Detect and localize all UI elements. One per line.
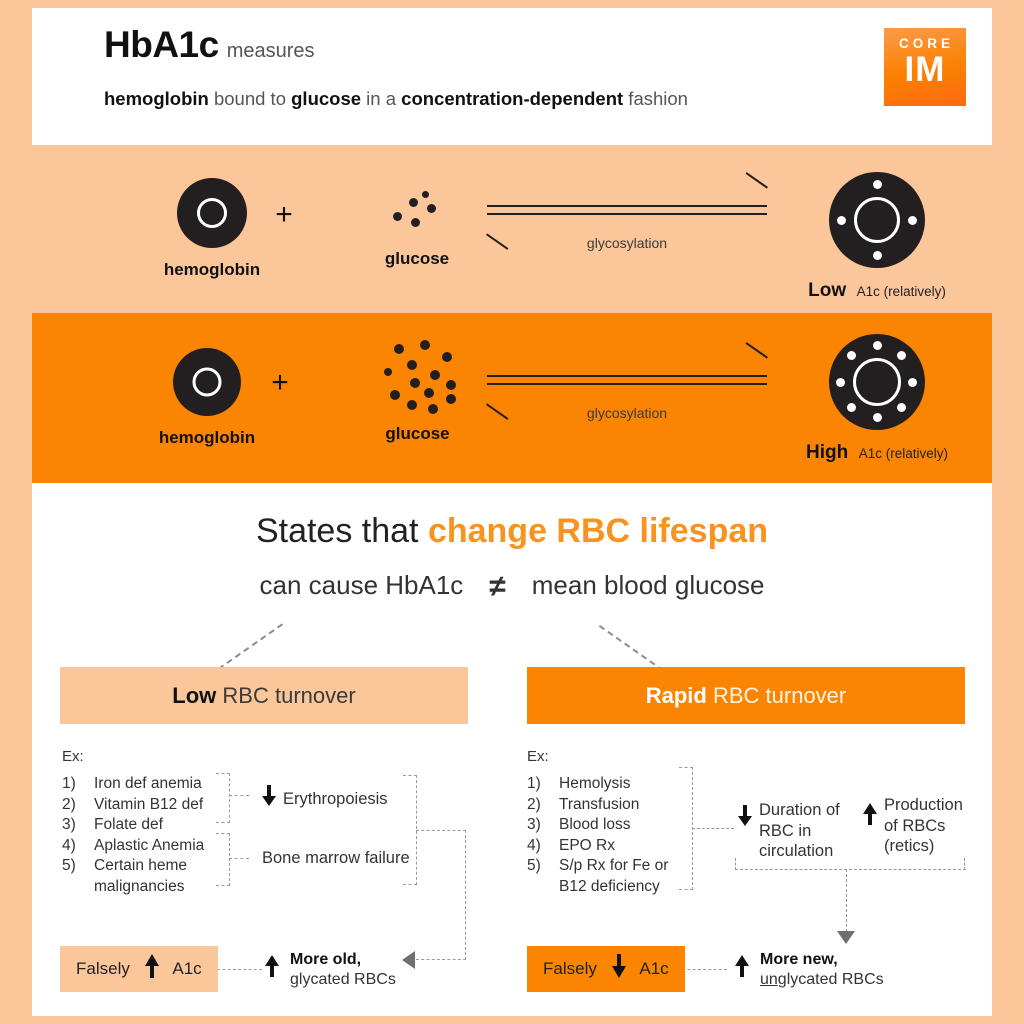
list-item-number: 5) xyxy=(62,856,94,877)
hemoglobin-circle-icon xyxy=(177,178,247,248)
title-hba1c: HbA1c xyxy=(104,24,219,65)
effect-erythropoiesis-low: Erythropoiesis xyxy=(262,785,388,810)
subheadline-left: can cause HbA1c xyxy=(260,570,464,600)
effect-label-line2: of RBCs xyxy=(884,817,945,835)
effect-label-line1: Duration of xyxy=(759,801,840,819)
effect-label-line3: circulation xyxy=(759,842,833,860)
list-item: 2)Transfusion xyxy=(527,795,668,816)
effect-label-line1: Production xyxy=(884,796,963,814)
panel-rapid-strong: Rapid xyxy=(646,683,707,708)
list-item-number: 5) xyxy=(527,856,559,877)
glucose-label: glucose xyxy=(350,424,485,444)
ex-label-low: Ex: xyxy=(62,748,84,765)
not-equal-icon: ≠ xyxy=(489,570,505,604)
up-arrow-icon xyxy=(145,950,159,996)
panel-header-low-turnover: Low RBC turnover xyxy=(60,667,468,724)
list-item: malignancies xyxy=(62,877,204,898)
effect-label: Erythropoiesis xyxy=(283,790,388,808)
high-a1c-strong: High xyxy=(806,442,848,463)
bracket-rapid-stub xyxy=(692,828,734,829)
list-item-label: Certain heme xyxy=(94,857,187,874)
low-a1c-product: Low A1c (relatively) xyxy=(772,172,982,302)
page-title: HbA1cmeasures xyxy=(104,24,315,66)
glucose-label: glucose xyxy=(352,249,482,269)
subtitle-glucose: glucose xyxy=(291,88,361,109)
bracket-low-group1-top xyxy=(216,773,230,774)
logo-core-text: CORE xyxy=(887,36,966,51)
list-item: 3)Blood loss xyxy=(527,815,668,836)
hemoglobin-label: hemoglobin xyxy=(137,428,277,448)
glucose-molecule-high: glucose xyxy=(350,336,485,444)
outcome-rest: glycated RBCs xyxy=(778,971,884,988)
list-item-label: Blood loss xyxy=(559,816,631,833)
glucose-dots-icon xyxy=(376,336,460,414)
bracket-low-group2-top xyxy=(216,833,230,834)
list-item: 1)Hemolysis xyxy=(527,774,668,795)
outcome-strong: More old, xyxy=(290,951,361,968)
hemoglobin-label: hemoglobin xyxy=(142,260,282,280)
list-item-number: 1) xyxy=(527,774,559,795)
list-item: 4)EPO Rx xyxy=(527,836,668,857)
down-arrow-icon xyxy=(738,805,752,827)
arrowhead-down-rapid xyxy=(837,931,855,944)
high-a1c-rest: A1c (relatively) xyxy=(859,446,948,461)
example-list-low: 1)Iron def anemia 2)Vitamin B12 def 3)Fo… xyxy=(62,774,204,897)
effect-label-line3: (retics) xyxy=(884,837,934,855)
list-item-label: Hemolysis xyxy=(559,775,630,792)
list-item: 2)Vitamin B12 def xyxy=(62,795,204,816)
list-item-label: Vitamin B12 def xyxy=(94,796,203,813)
connector-low-outcome-to-result xyxy=(212,969,262,970)
route-low-down xyxy=(465,830,466,960)
falsely-suffix: A1c xyxy=(172,959,201,978)
plus-sign-low: + xyxy=(264,198,304,232)
glycosylation-arrow-low: glycosylation xyxy=(487,195,767,229)
effect-production-rbc-rapid: Production of RBCs (retics) xyxy=(863,795,963,857)
example-list-rapid: 1)Hemolysis 2)Transfusion 3)Blood loss 4… xyxy=(527,774,668,897)
list-item: B12 deficiency xyxy=(527,877,668,898)
list-item-number: 4) xyxy=(527,836,559,857)
high-a1c-product: High A1c (relatively) xyxy=(772,334,982,464)
subtitle-concentration-dependent: concentration-dependent xyxy=(401,88,623,109)
ex-label-rapid: Ex: xyxy=(527,748,549,765)
route-low-to-outcome xyxy=(416,959,466,960)
subtitle-fashion: fashion xyxy=(623,88,688,109)
bracket-low-group1 xyxy=(229,773,230,823)
bracket-low-group2-stub xyxy=(229,858,249,859)
low-a1c-rest: A1c (relatively) xyxy=(857,284,946,299)
outcome-low: More old, glycated RBCs xyxy=(290,950,396,990)
list-item-label: B12 deficiency xyxy=(527,877,668,898)
headline-accent: change RBC lifespan xyxy=(428,512,768,550)
core-im-logo: CORE IM xyxy=(884,28,966,106)
route-low-right-bottom xyxy=(403,884,417,885)
list-item-label: Folate def xyxy=(94,816,163,833)
route-low-right-top xyxy=(403,775,417,776)
up-arrow-icon xyxy=(735,955,749,977)
list-item-label: Transfusion xyxy=(559,796,639,813)
falsely-low-a1c-box: Falsely A1c xyxy=(527,946,685,992)
glucose-molecule-low: glucose xyxy=(352,178,482,269)
falsely-high-a1c-box: Falsely A1c xyxy=(60,946,218,992)
list-item-label: malignancies xyxy=(62,877,204,898)
outcome-rest: glycated RBCs xyxy=(290,971,396,988)
falsely-prefix: Falsely xyxy=(76,959,130,978)
up-arrow-icon xyxy=(863,803,877,825)
bracket-low-group2-bottom xyxy=(216,885,230,886)
falsely-suffix: A1c xyxy=(639,959,668,978)
glycated-hemoglobin-high-icon xyxy=(829,334,925,430)
list-item-label: Iron def anemia xyxy=(94,775,202,792)
bracket-rapid-bottom xyxy=(679,889,693,890)
route-rapid-down xyxy=(846,869,847,932)
list-item: 5)Certain heme xyxy=(62,856,204,877)
list-item: 1)Iron def anemia xyxy=(62,774,204,795)
panel-low-strong: Low xyxy=(172,683,216,708)
list-item-number: 1) xyxy=(62,774,94,795)
page-subtitle: hemoglobin bound to glucose in a concent… xyxy=(104,88,688,110)
hemoglobin-molecule-low: hemoglobin xyxy=(142,178,282,280)
panel-header-rapid-turnover: Rapid RBC turnover xyxy=(527,667,965,724)
hemoglobin-circle-icon xyxy=(173,348,241,416)
list-item-number: 3) xyxy=(62,815,94,836)
bracket-low-group1-bottom xyxy=(216,822,230,823)
list-item: 3)Folate def xyxy=(62,815,204,836)
falsely-prefix: Falsely xyxy=(543,959,597,978)
glucose-dots-icon xyxy=(387,190,447,236)
bracket-low-group2 xyxy=(229,833,230,886)
panel-rapid-rest: RBC turnover xyxy=(707,683,846,708)
logo-im-text: IM xyxy=(884,53,966,87)
bracket-rapid-top xyxy=(679,767,693,768)
equilibrium-arrow-icon xyxy=(487,365,767,399)
effect-label: Bone marrow failure xyxy=(262,849,410,867)
list-item-label: S/p Rx for Fe or xyxy=(559,857,668,874)
section-subheadline: can cause HbA1c≠mean blood glucose xyxy=(0,568,1024,602)
effect-bone-marrow-failure-low: Bone marrow failure xyxy=(262,848,410,869)
list-item: 4)Aplastic Anemia xyxy=(62,836,204,857)
route-rapid-join-left xyxy=(735,858,736,870)
arrowhead-left-low-outcome xyxy=(402,951,415,969)
high-a1c-caption: High A1c (relatively) xyxy=(772,442,982,464)
subheadline-right: mean blood glucose xyxy=(532,570,765,600)
effect-duration-rbc-rapid: Duration of RBC in circulation xyxy=(738,800,840,862)
up-arrow-icon xyxy=(265,955,279,977)
glycosylation-label: glycosylation xyxy=(487,405,767,421)
effect-label-line2: RBC in xyxy=(759,822,811,840)
list-item-label: Aplastic Anemia xyxy=(94,837,204,854)
subtitle-hemoglobin: hemoglobin xyxy=(104,88,209,109)
list-item: 5)S/p Rx for Fe or xyxy=(527,856,668,877)
panel-low-rest: RBC turnover xyxy=(216,683,355,708)
list-item-number: 2) xyxy=(62,795,94,816)
section-headline: States that change RBC lifespan xyxy=(0,512,1024,551)
down-arrow-icon xyxy=(262,785,276,807)
title-measures: measures xyxy=(227,40,315,62)
low-a1c-strong: Low xyxy=(808,280,846,301)
list-item-label: EPO Rx xyxy=(559,837,615,854)
glycosylation-arrow-high: glycosylation xyxy=(487,365,767,399)
list-item-number: 3) xyxy=(527,815,559,836)
list-item-number: 4) xyxy=(62,836,94,857)
bracket-low-group1-stub xyxy=(229,795,249,796)
equilibrium-arrow-icon xyxy=(487,195,767,229)
low-a1c-caption: Low A1c (relatively) xyxy=(772,280,982,302)
outcome-underline: un xyxy=(760,971,778,988)
route-rapid-join-right xyxy=(964,858,965,870)
subtitle-in-a: in a xyxy=(361,88,401,109)
hemoglobin-molecule-high: hemoglobin xyxy=(137,348,277,448)
route-low-right-stub xyxy=(416,830,466,831)
infographic-canvas: HbA1cmeasures hemoglobin bound to glucos… xyxy=(0,0,1024,1024)
outcome-rapid: More new, unglycated RBCs xyxy=(760,950,884,990)
subtitle-bound-to: bound to xyxy=(209,88,291,109)
outcome-strong: More new, xyxy=(760,951,838,968)
down-arrow-icon xyxy=(612,950,626,996)
glycated-hemoglobin-low-icon xyxy=(829,172,925,268)
route-rapid-join xyxy=(735,869,966,870)
glycosylation-label: glycosylation xyxy=(487,235,767,251)
plus-sign-high: + xyxy=(260,366,300,400)
list-item-number: 2) xyxy=(527,795,559,816)
headline-prefix: States that xyxy=(256,512,428,550)
